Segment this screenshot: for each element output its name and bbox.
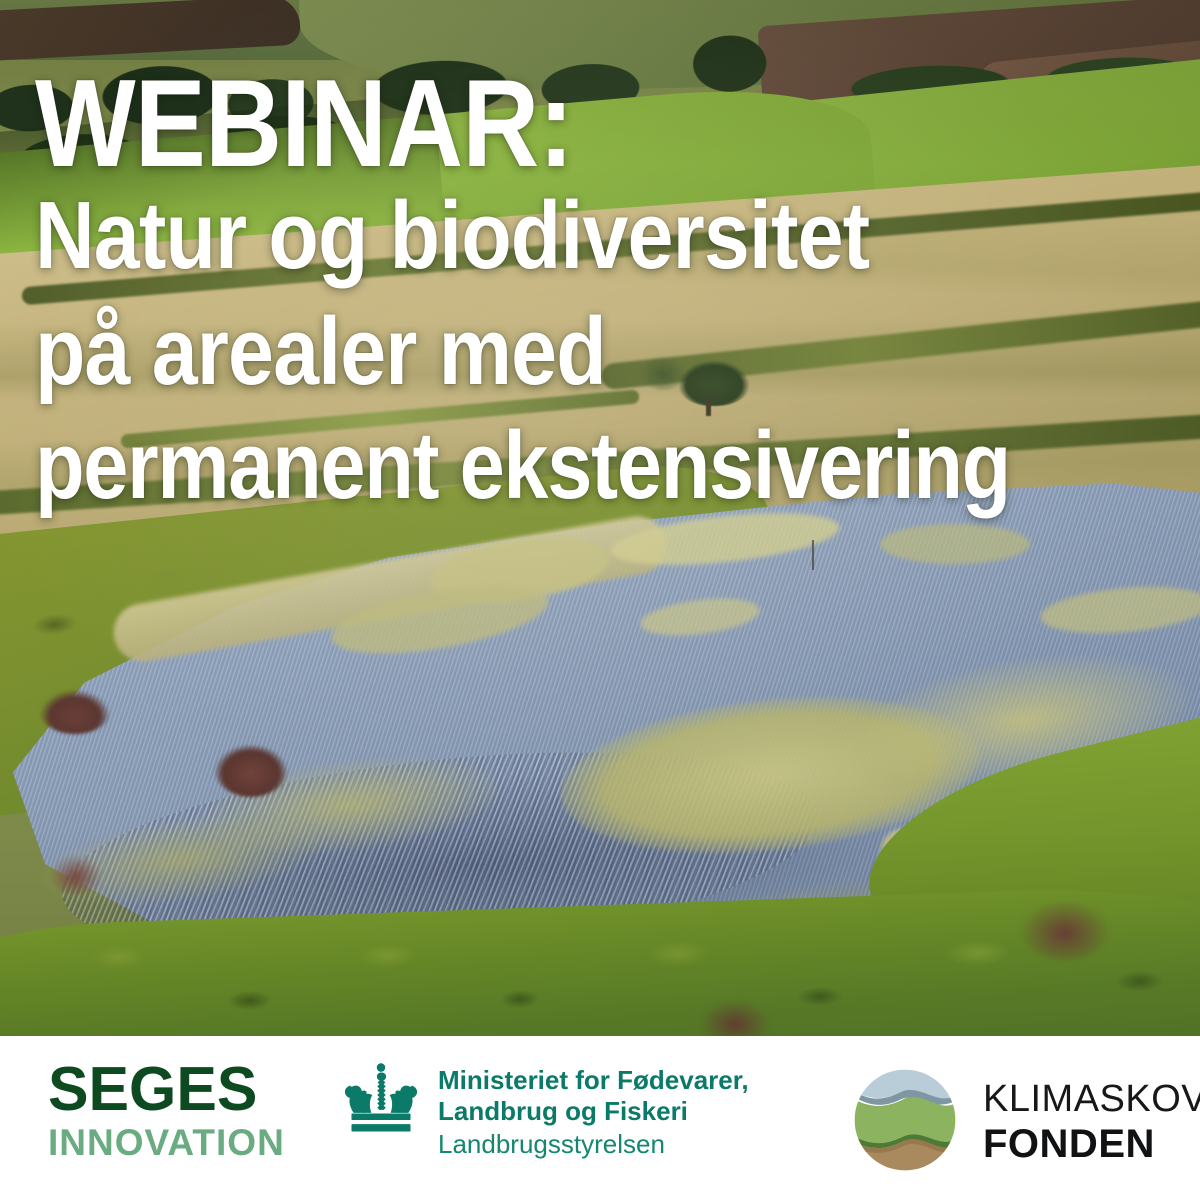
seges-wordmark: SEGES [48, 1060, 342, 1120]
ministry-text: Ministeriet for Fødevarer, Landbrug og F… [438, 1065, 749, 1161]
klimaskov-circle-waves-icon [845, 1060, 965, 1180]
bank-reed-tuft [1020, 900, 1110, 960]
reed-tuft [40, 690, 110, 734]
ministry-line-1: Ministeriet for Fødevarer, [438, 1065, 749, 1096]
klimaskovfonden-logo: KLIMASKOV FONDEN [845, 1060, 1200, 1180]
ministry-agency-name: Landbrugsstyrelsen [438, 1127, 749, 1161]
lone-tree-trunk [706, 398, 711, 416]
danish-royal-crown-icon [340, 1061, 422, 1143]
background-photo [0, 0, 1200, 1036]
algae-patch [880, 524, 1030, 564]
seges-innovation-wordmark: INNOVATION [48, 1122, 348, 1164]
ministry-line-2: Landbrug og Fiskeri [438, 1096, 749, 1127]
klimaskov-wordmark: KLIMASKOV [983, 1077, 1200, 1121]
klimaskovfonden-text: KLIMASKOV FONDEN [983, 1077, 1200, 1167]
ministry-logo: Ministeriet for Fødevarer, Landbrug og F… [340, 1055, 749, 1161]
fonden-wordmark: FONDEN [983, 1121, 1200, 1167]
lone-tree [678, 360, 750, 406]
bank-reed-tuft [700, 1000, 770, 1036]
webinar-promo-poster: WEBINAR: Natur og biodiversitet på areal… [0, 0, 1200, 1200]
seges-logo: SEGES INNOVATION [48, 1060, 348, 1164]
reed-tuft [50, 855, 102, 895]
water-stalk [812, 540, 814, 570]
reed-tuft [215, 745, 287, 797]
